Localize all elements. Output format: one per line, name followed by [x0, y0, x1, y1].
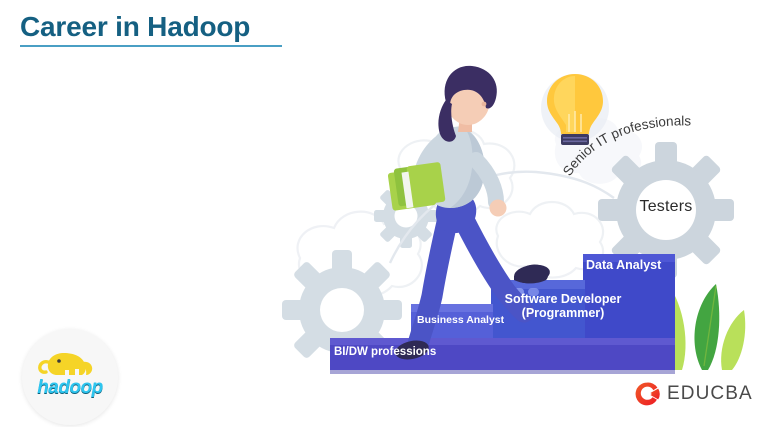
step-label-software-developer-line1: Software Developer	[505, 292, 622, 306]
educba-logo: EDUCBA	[634, 381, 753, 407]
hadoop-mark: hadoop	[35, 349, 105, 405]
title-block: Career in Hadoop	[20, 12, 360, 47]
page-title: Career in Hadoop	[20, 12, 360, 41]
step-label-data-analyst: Data Analyst	[586, 258, 661, 272]
hadoop-wordmark: hadoop	[35, 377, 105, 399]
hadoop-logo-badge: hadoop	[22, 329, 118, 425]
slide-canvas: Career in Hadoop	[0, 0, 768, 427]
educba-wordmark: EDUCBA	[667, 383, 753, 405]
educba-mark-icon	[634, 381, 660, 407]
title-underline-rule	[20, 45, 282, 47]
hadoop-elephant-icon	[35, 349, 105, 379]
step-label-software-developer-line2: (Programmer)	[522, 306, 605, 320]
step-label-software-developer: Software Developer (Programmer)	[497, 292, 629, 320]
hand	[490, 200, 507, 217]
step-label-business-analyst: Business Analyst	[417, 315, 504, 327]
step-label-bidw-professions: BI/DW professions	[334, 346, 436, 359]
career-illustration	[270, 48, 768, 388]
testers-gear-label: Testers	[628, 198, 704, 216]
